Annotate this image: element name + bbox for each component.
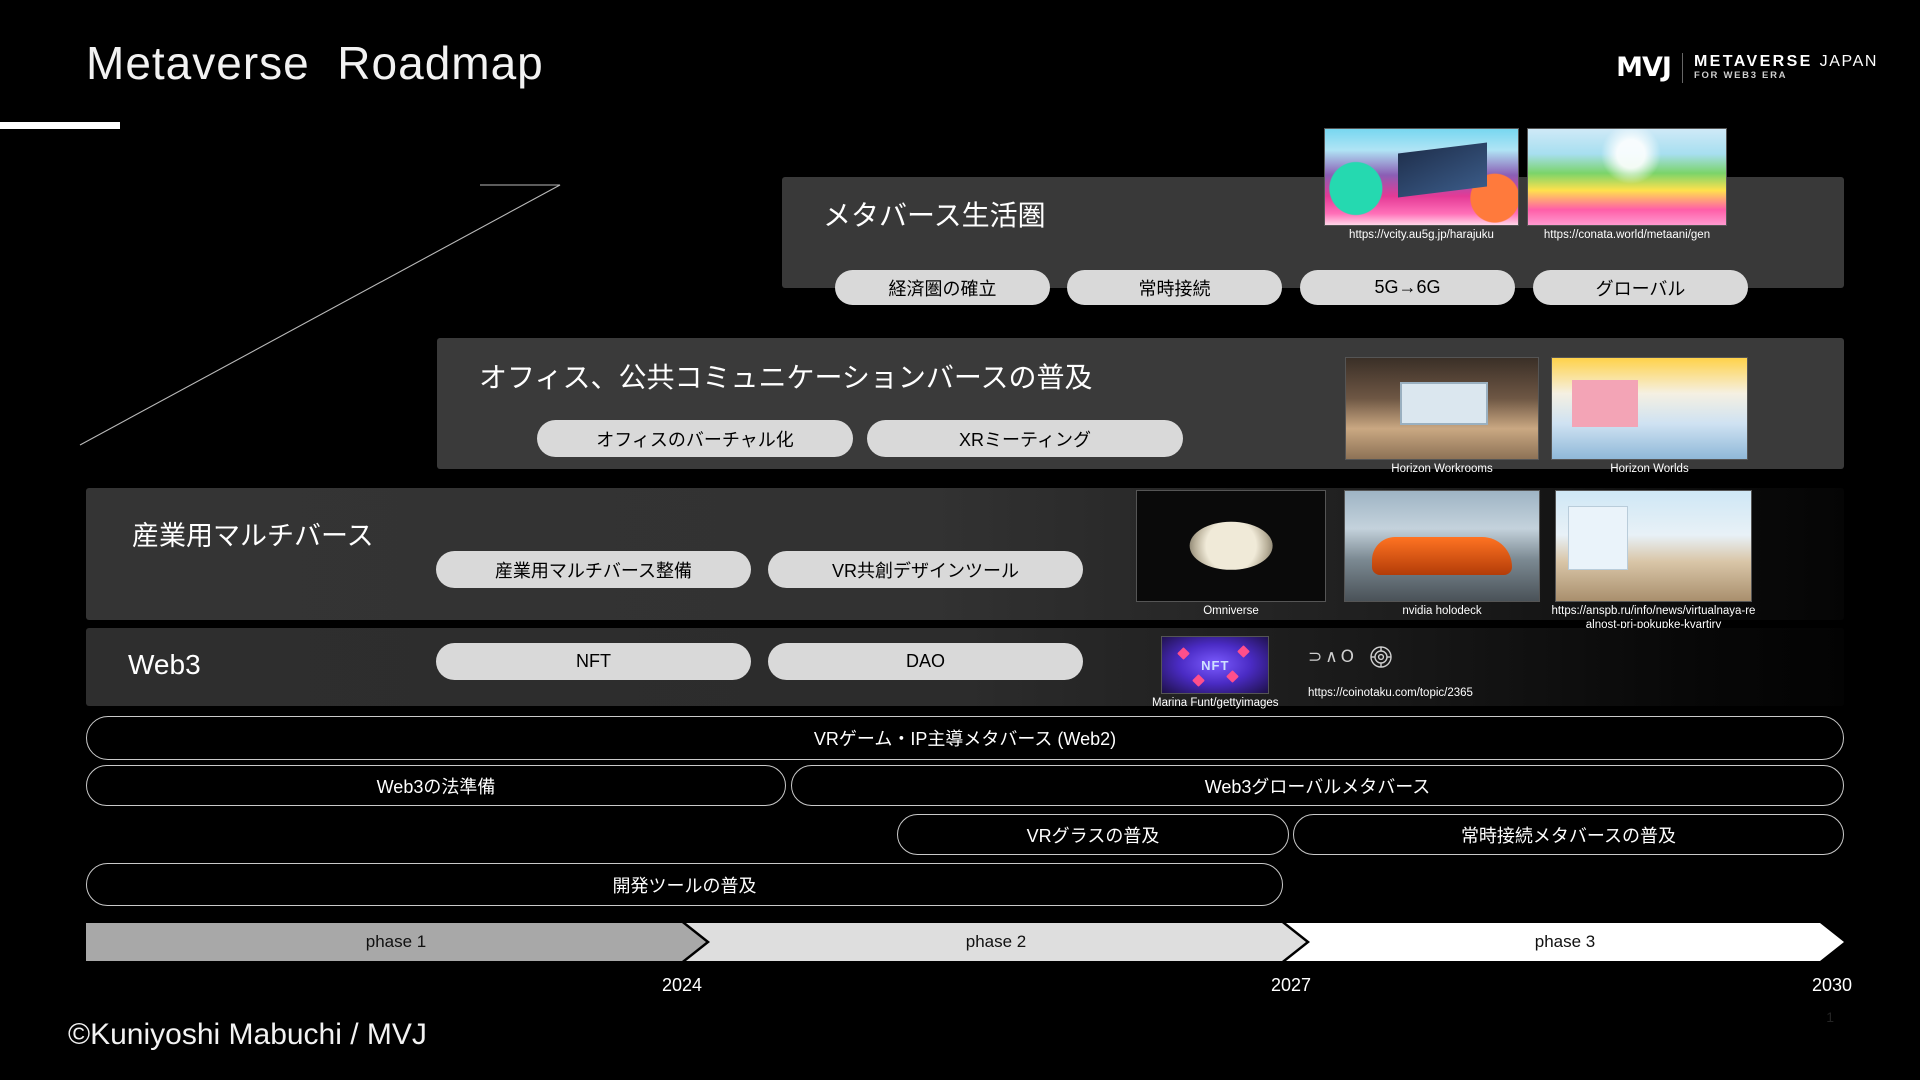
band-title: オフィス、公共コミュニケーションバースの普及 bbox=[479, 356, 1092, 396]
pill-global[interactable]: グローバル bbox=[1533, 270, 1748, 305]
logo-main-text: METAVERSE bbox=[1694, 53, 1813, 70]
vcity-caption: https://vcity.au5g.jp/harajuku bbox=[1349, 229, 1494, 243]
thumbnail-conata: https://conata.world/metaani/gen bbox=[1527, 128, 1727, 243]
phase-3-arrow[interactable]: phase 3 bbox=[1286, 923, 1844, 961]
band-title: Web3 bbox=[128, 649, 201, 681]
timeline-bar-dev-tools-adoption[interactable]: 開発ツールの普及 bbox=[86, 863, 1283, 906]
thumbnail-horizon-worlds: Horizon Worlds bbox=[1551, 357, 1748, 477]
logo-divider bbox=[1682, 53, 1683, 83]
logo-main-alt-text: JAPAN bbox=[1820, 53, 1878, 70]
thumbnail-nvidia-holodeck: nvidia holodeck bbox=[1344, 490, 1540, 619]
dao-logo-mark: ⊃∧Ο bbox=[1308, 645, 1393, 669]
band-title: 産業用マルチバース bbox=[132, 514, 374, 553]
title-accent-rule bbox=[0, 122, 120, 129]
omniverse-caption: Omniverse bbox=[1203, 605, 1259, 619]
slide-root: Metaverse Roadmap MVJ METAVERSE JAPAN FO… bbox=[0, 0, 1920, 1080]
thumbnail-dao-coinotaku: https://coinotaku.com/topic/2365 bbox=[1308, 684, 1473, 701]
mvj-logo: MVJ METAVERSE JAPAN FOR WEB3 ERA bbox=[1616, 52, 1878, 83]
timeline-bar-vr-game-ip-metaverse[interactable]: VRゲーム・IP主導メタバース (Web2) bbox=[86, 716, 1844, 760]
pill-dao[interactable]: DAO bbox=[768, 643, 1083, 680]
omniverse-image bbox=[1136, 490, 1326, 602]
nft-image: NFT bbox=[1161, 636, 1269, 694]
logo-mark: MVJ bbox=[1616, 52, 1671, 83]
pill-office-virtualization[interactable]: オフィスのバーチャル化 bbox=[537, 420, 853, 457]
timeline-bar-web3-legal-prep[interactable]: Web3の法準備 bbox=[86, 765, 786, 806]
timeline-bar-always-on-metaverse-adoption[interactable]: 常時接続メタバースの普及 bbox=[1293, 814, 1844, 855]
pill-keizaiken-no-kakuritsu[interactable]: 経済圏の確立 bbox=[835, 270, 1050, 305]
thumbnail-horizon-workrooms: Horizon Workrooms bbox=[1345, 357, 1539, 477]
thumbnail-vcity: https://vcity.au5g.jp/harajuku bbox=[1324, 128, 1519, 243]
pill-industrial-multiverse-development[interactable]: 産業用マルチバース整備 bbox=[436, 551, 751, 588]
dao-gear-icon bbox=[1369, 645, 1393, 669]
band-title: メタバース生活圏 bbox=[823, 194, 1046, 234]
nft-caption: Marina Funt/gettyimages bbox=[1152, 697, 1279, 711]
phase-1-arrow[interactable]: phase 1 bbox=[86, 923, 706, 961]
page-number: 1 bbox=[1826, 1009, 1834, 1025]
dao-wordmark: ⊃∧Ο bbox=[1308, 647, 1357, 667]
thumbnail-anspb: https://anspb.ru/info/news/virtualnaya-r… bbox=[1551, 490, 1756, 632]
timeline-bar-web3-global-metaverse[interactable]: Web3グローバルメタバース bbox=[791, 765, 1844, 806]
dao-caption: https://coinotaku.com/topic/2365 bbox=[1308, 687, 1473, 701]
year-axis: 2024 2027 2030 bbox=[0, 975, 1920, 1003]
nft-image-label: NFT bbox=[1162, 658, 1268, 673]
pill-xr-meeting[interactable]: XRミーティング bbox=[867, 420, 1183, 457]
logo-sub-text: FOR WEB3 ERA bbox=[1694, 71, 1878, 82]
horizon-workrooms-caption: Horizon Workrooms bbox=[1391, 463, 1492, 477]
timeline-bar-vr-glasses-adoption[interactable]: VRグラスの普及 bbox=[897, 814, 1289, 855]
pill-joji-setsuzoku[interactable]: 常時接続 bbox=[1067, 270, 1282, 305]
pill-nft[interactable]: NFT bbox=[436, 643, 751, 680]
vcity-image bbox=[1324, 128, 1519, 226]
conata-caption: https://conata.world/metaani/gen bbox=[1544, 229, 1710, 243]
thumbnail-omniverse: Omniverse bbox=[1136, 490, 1326, 619]
horizon-worlds-image bbox=[1551, 357, 1748, 460]
nvidia-holodeck-image bbox=[1344, 490, 1540, 602]
horizon-worlds-caption: Horizon Worlds bbox=[1610, 463, 1688, 477]
year-label-2027: 2027 bbox=[1271, 975, 1311, 996]
nvidia-holodeck-caption: nvidia holodeck bbox=[1402, 605, 1481, 619]
phase-2-arrow[interactable]: phase 2 bbox=[686, 923, 1306, 961]
copyright-text: ©Kuniyoshi Mabuchi / MVJ bbox=[68, 1018, 427, 1052]
pill-vr-codesign-tool[interactable]: VR共創デザインツール bbox=[768, 551, 1083, 588]
thumbnail-nft-getty: NFT Marina Funt/gettyimages bbox=[1152, 636, 1279, 711]
phase-arrow-track: phase 1 phase 2 phase 3 bbox=[86, 923, 1844, 961]
year-label-2030: 2030 bbox=[1812, 975, 1852, 996]
anspb-image bbox=[1555, 490, 1752, 602]
year-label-2024: 2024 bbox=[662, 975, 702, 996]
page-title: Metaverse Roadmap bbox=[86, 36, 544, 90]
pill-5g-to-6g[interactable]: 5G→6G bbox=[1300, 270, 1515, 305]
conata-image bbox=[1527, 128, 1727, 226]
horizon-workrooms-image bbox=[1345, 357, 1539, 460]
